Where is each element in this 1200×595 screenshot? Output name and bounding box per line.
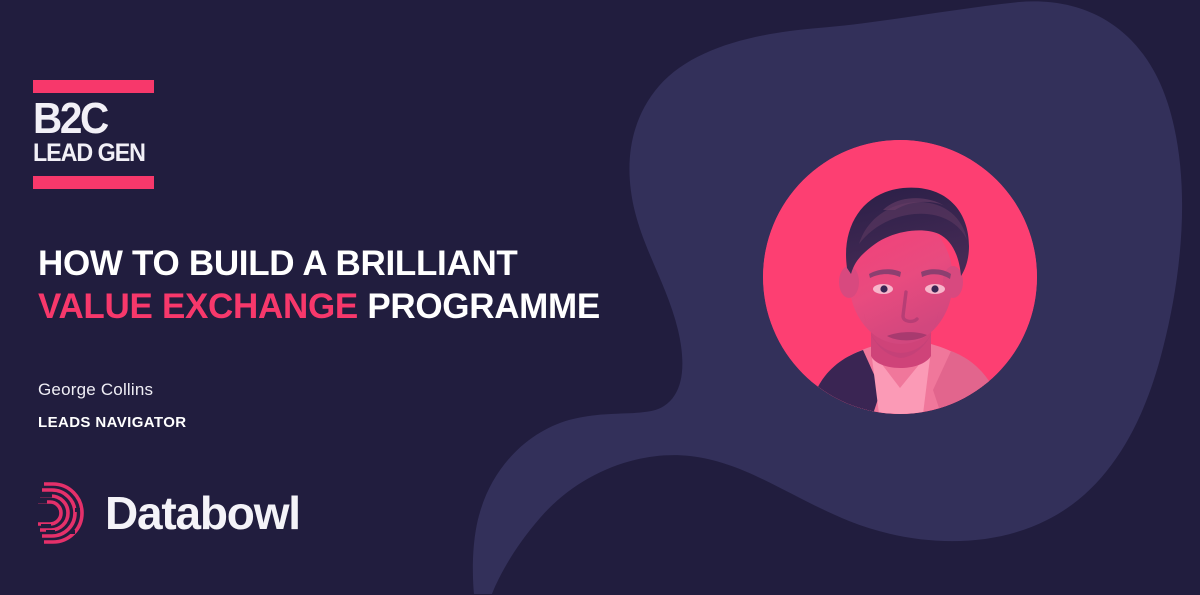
speaker-name: George Collins — [38, 380, 187, 400]
left-content-column: B2C LEAD GEN HOW TO BUILD A BRILLIANT VA… — [33, 0, 633, 595]
b2c-lead-gen-logo: B2C LEAD GEN — [33, 80, 154, 189]
logo-bottom-bar — [33, 176, 154, 189]
headline-rest-text: PROGRAMME — [367, 287, 600, 326]
databowl-logo: Databowl — [33, 478, 300, 548]
speaker-portrait-duotone — [763, 140, 1037, 414]
headline-space — [358, 287, 367, 326]
logo-sub-text: LEAD GEN — [33, 140, 146, 166]
speaker-role: LEADS NAVIGATOR — [38, 414, 187, 431]
headline-line-1: HOW TO BUILD A BRILLIANT — [38, 243, 658, 286]
logo-wordmark: B2C LEAD GEN — [33, 93, 154, 171]
headline-block: HOW TO BUILD A BRILLIANT VALUE EXCHANGE … — [38, 243, 658, 328]
headline-line-2: VALUE EXCHANGE PROGRAMME — [38, 286, 658, 329]
databowl-wordmark: Databowl — [105, 490, 300, 536]
databowl-d-arcs-mark — [33, 478, 95, 548]
headline-accent-text: VALUE EXCHANGE — [38, 287, 358, 326]
promo-banner: B2C LEAD GEN HOW TO BUILD A BRILLIANT VA… — [0, 0, 1200, 595]
logo-top-bar — [33, 80, 154, 93]
logo-main-text: B2C — [33, 99, 144, 139]
speaker-block: George Collins LEADS NAVIGATOR — [38, 380, 187, 431]
speaker-avatar — [763, 140, 1037, 414]
